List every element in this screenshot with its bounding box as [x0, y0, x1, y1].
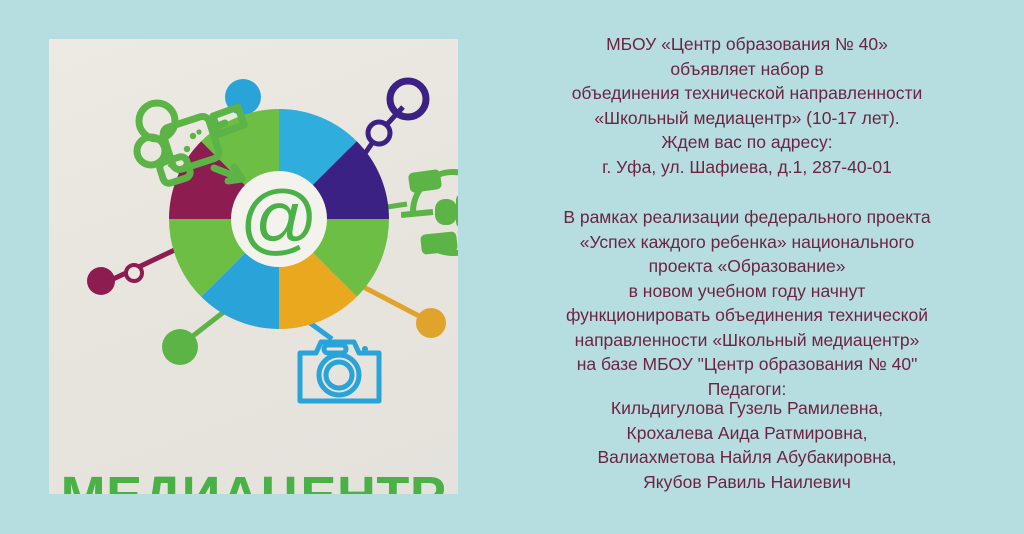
- program-line: В рамках реализации федерального проекта: [470, 205, 1024, 230]
- teacher-name: Якубов Равиль Наилевич: [470, 470, 1024, 495]
- program-line: проекта «Образование»: [470, 254, 1024, 279]
- video-camera-icon: [129, 89, 254, 204]
- program-description-block: В рамках реализации федерального проекта…: [470, 205, 1024, 401]
- announcement-line: объявляет набор в: [470, 57, 1024, 82]
- announcement-text-panel: МБОУ «Центр образования № 40» объявляет …: [470, 0, 1024, 534]
- program-line: на базе МБОУ "Центр образования № 40": [470, 352, 1024, 377]
- announcement-address-line: г. Уфа, ул. Шафиева, д.1, 287-40-01: [470, 155, 1024, 180]
- teacher-name: Валиахметова Найля Абубакировна,: [470, 445, 1024, 470]
- announcement-line: «Школьный медиацентр» (10-17 лет).: [470, 106, 1024, 131]
- magenta-node: [87, 267, 115, 295]
- orange-node: [416, 308, 446, 338]
- photo-camera-icon: [294, 321, 386, 413]
- program-line: функционировать объединения технической: [470, 303, 1024, 328]
- program-line: «Успех каждого ребенка» национального: [470, 230, 1024, 255]
- green-node: [162, 329, 198, 365]
- teacher-name: Кильдигулова Гузель Рамилевна,: [470, 396, 1024, 421]
- media-center-wordmark: МЕДИАЦЕНТР: [49, 469, 458, 494]
- magenta-ring-node: [126, 265, 142, 281]
- teacher-name: Крохалева Аида Ратмировна,: [470, 421, 1024, 446]
- announcement-block: МБОУ «Центр образования № 40» объявляет …: [470, 32, 1024, 179]
- announcement-line: Ждем вас по адресу:: [470, 130, 1024, 155]
- teachers-list: Кильдигулова Гузель Рамилевна, Крохалева…: [470, 396, 1024, 494]
- announcement-line: МБОУ «Центр образования № 40»: [470, 32, 1024, 57]
- program-line: направленности «Школьный медиацентр»: [470, 328, 1024, 353]
- program-line: в новом учебном году начнут: [470, 279, 1024, 304]
- poster-canvas: @: [0, 0, 1024, 534]
- media-center-poster-card: @: [49, 39, 458, 494]
- announcement-line: объединения технической направленности: [470, 81, 1024, 106]
- headphones-microphone-icon: [401, 157, 458, 262]
